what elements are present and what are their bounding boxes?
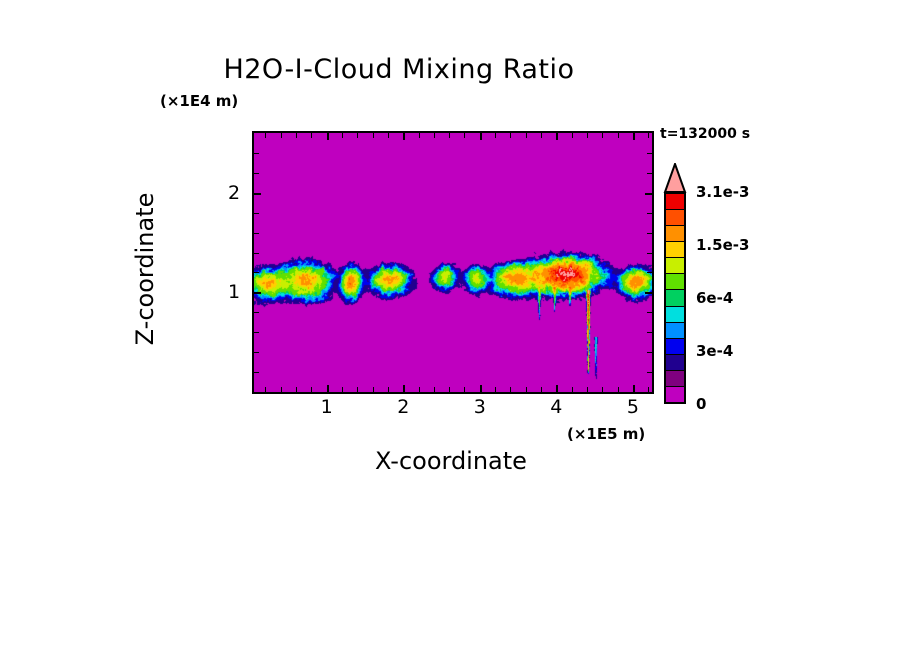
axis-tick <box>449 387 450 392</box>
page-title: H2O-I-Cloud Mixing Ratio <box>0 54 851 85</box>
x-tick-label: 2 <box>397 396 409 418</box>
axis-tick <box>647 213 652 214</box>
axis-tick <box>254 352 259 353</box>
axis-tick <box>480 133 482 140</box>
axis-tick <box>254 213 259 214</box>
axis-tick <box>541 387 542 392</box>
axis-tick <box>572 387 573 392</box>
axis-tick <box>342 387 343 392</box>
axis-tick <box>647 173 652 174</box>
axis-tick <box>254 253 259 254</box>
axis-tick <box>647 253 652 254</box>
axis-tick <box>647 372 652 373</box>
y-axis-title: Z-coordinate <box>131 69 159 469</box>
axis-tick <box>495 387 496 392</box>
colorbar-max-arrow-icon <box>662 163 688 193</box>
axis-tick <box>357 387 358 392</box>
axis-tick <box>254 193 261 195</box>
colorbar-tick-label: 0 <box>696 395 706 413</box>
cloud-mixing-ratio-field <box>254 133 652 392</box>
y-tick-label: 2 <box>228 182 240 204</box>
axis-tick <box>647 312 652 313</box>
axis-tick <box>602 133 603 138</box>
colorbar-band <box>666 242 684 258</box>
axis-tick <box>254 372 259 373</box>
x-tick-label: 1 <box>321 396 333 418</box>
y-axis-unit-label: (×1E4 m) <box>160 92 238 110</box>
axis-tick <box>265 387 266 392</box>
axis-tick <box>602 387 603 392</box>
colorbar-band <box>666 371 684 387</box>
axis-tick <box>510 133 511 138</box>
axis-tick <box>618 387 619 392</box>
x-tick-label: 5 <box>627 396 639 418</box>
colorbar-band <box>666 355 684 371</box>
axis-tick <box>480 385 482 392</box>
axis-tick <box>587 387 588 392</box>
axis-tick <box>403 385 405 392</box>
axis-tick <box>254 153 259 154</box>
axis-tick <box>388 133 389 138</box>
axis-tick <box>311 133 312 138</box>
axis-tick <box>434 387 435 392</box>
axis-tick <box>556 133 558 140</box>
axis-tick <box>388 387 389 392</box>
axis-tick <box>587 133 588 138</box>
axis-tick <box>648 387 649 392</box>
x-tick-label: 4 <box>550 396 562 418</box>
axis-tick <box>556 385 558 392</box>
axis-tick <box>254 173 259 174</box>
axis-tick <box>296 387 297 392</box>
colorbar-band <box>666 323 684 339</box>
axis-tick <box>633 385 635 392</box>
axis-tick <box>434 133 435 138</box>
colorbar-band <box>666 194 684 210</box>
axis-tick <box>254 332 259 333</box>
colorbar-bands <box>664 192 686 404</box>
axis-tick <box>645 292 652 294</box>
axis-tick <box>254 272 259 273</box>
colorbar-tick-label: 6e-4 <box>696 289 733 307</box>
axis-tick <box>464 387 465 392</box>
axis-tick <box>403 133 405 140</box>
axis-tick <box>647 272 652 273</box>
x-axis-unit-label: (×1E5 m) <box>567 425 645 443</box>
axis-tick <box>419 133 420 138</box>
axis-tick <box>373 133 374 138</box>
x-axis-title: X-coordinate <box>252 447 650 475</box>
colorbar-band <box>666 226 684 242</box>
axis-tick <box>647 233 652 234</box>
colorbar-band <box>666 290 684 306</box>
axis-tick <box>647 332 652 333</box>
colorbar-band <box>666 210 684 226</box>
axis-tick <box>449 133 450 138</box>
plot-area <box>252 131 654 394</box>
axis-tick <box>572 133 573 138</box>
axis-tick <box>647 153 652 154</box>
axis-tick <box>327 133 329 140</box>
colorbar-band <box>666 307 684 323</box>
axis-tick <box>464 133 465 138</box>
axis-tick <box>342 133 343 138</box>
axis-tick <box>281 133 282 138</box>
axis-tick <box>419 387 420 392</box>
axis-tick <box>373 387 374 392</box>
axis-tick <box>618 133 619 138</box>
axis-tick <box>357 133 358 138</box>
colorbar-band <box>666 258 684 274</box>
axis-tick <box>254 312 259 313</box>
colorbar <box>662 163 688 405</box>
colorbar-band <box>666 387 684 402</box>
axis-tick <box>645 193 652 195</box>
colorbar-band <box>666 274 684 290</box>
axis-tick <box>296 133 297 138</box>
axis-tick <box>526 387 527 392</box>
time-annotation: t=132000 s <box>660 126 750 142</box>
axis-tick <box>541 133 542 138</box>
axis-tick <box>254 292 261 294</box>
colorbar-tick-label: 3.1e-3 <box>696 183 749 201</box>
axis-tick <box>254 233 259 234</box>
axis-tick <box>648 133 649 138</box>
axis-tick <box>647 352 652 353</box>
axis-tick <box>495 133 496 138</box>
colorbar-tick-label: 1.5e-3 <box>696 236 749 254</box>
axis-tick <box>510 387 511 392</box>
axis-tick <box>633 133 635 140</box>
axis-tick <box>311 387 312 392</box>
x-tick-label: 3 <box>474 396 486 418</box>
colorbar-tick-label: 3e-4 <box>696 342 733 360</box>
axis-tick <box>281 387 282 392</box>
axis-tick <box>327 385 329 392</box>
axis-tick <box>526 133 527 138</box>
axis-tick <box>265 133 266 138</box>
colorbar-band <box>666 339 684 355</box>
y-tick-label: 1 <box>228 281 240 303</box>
